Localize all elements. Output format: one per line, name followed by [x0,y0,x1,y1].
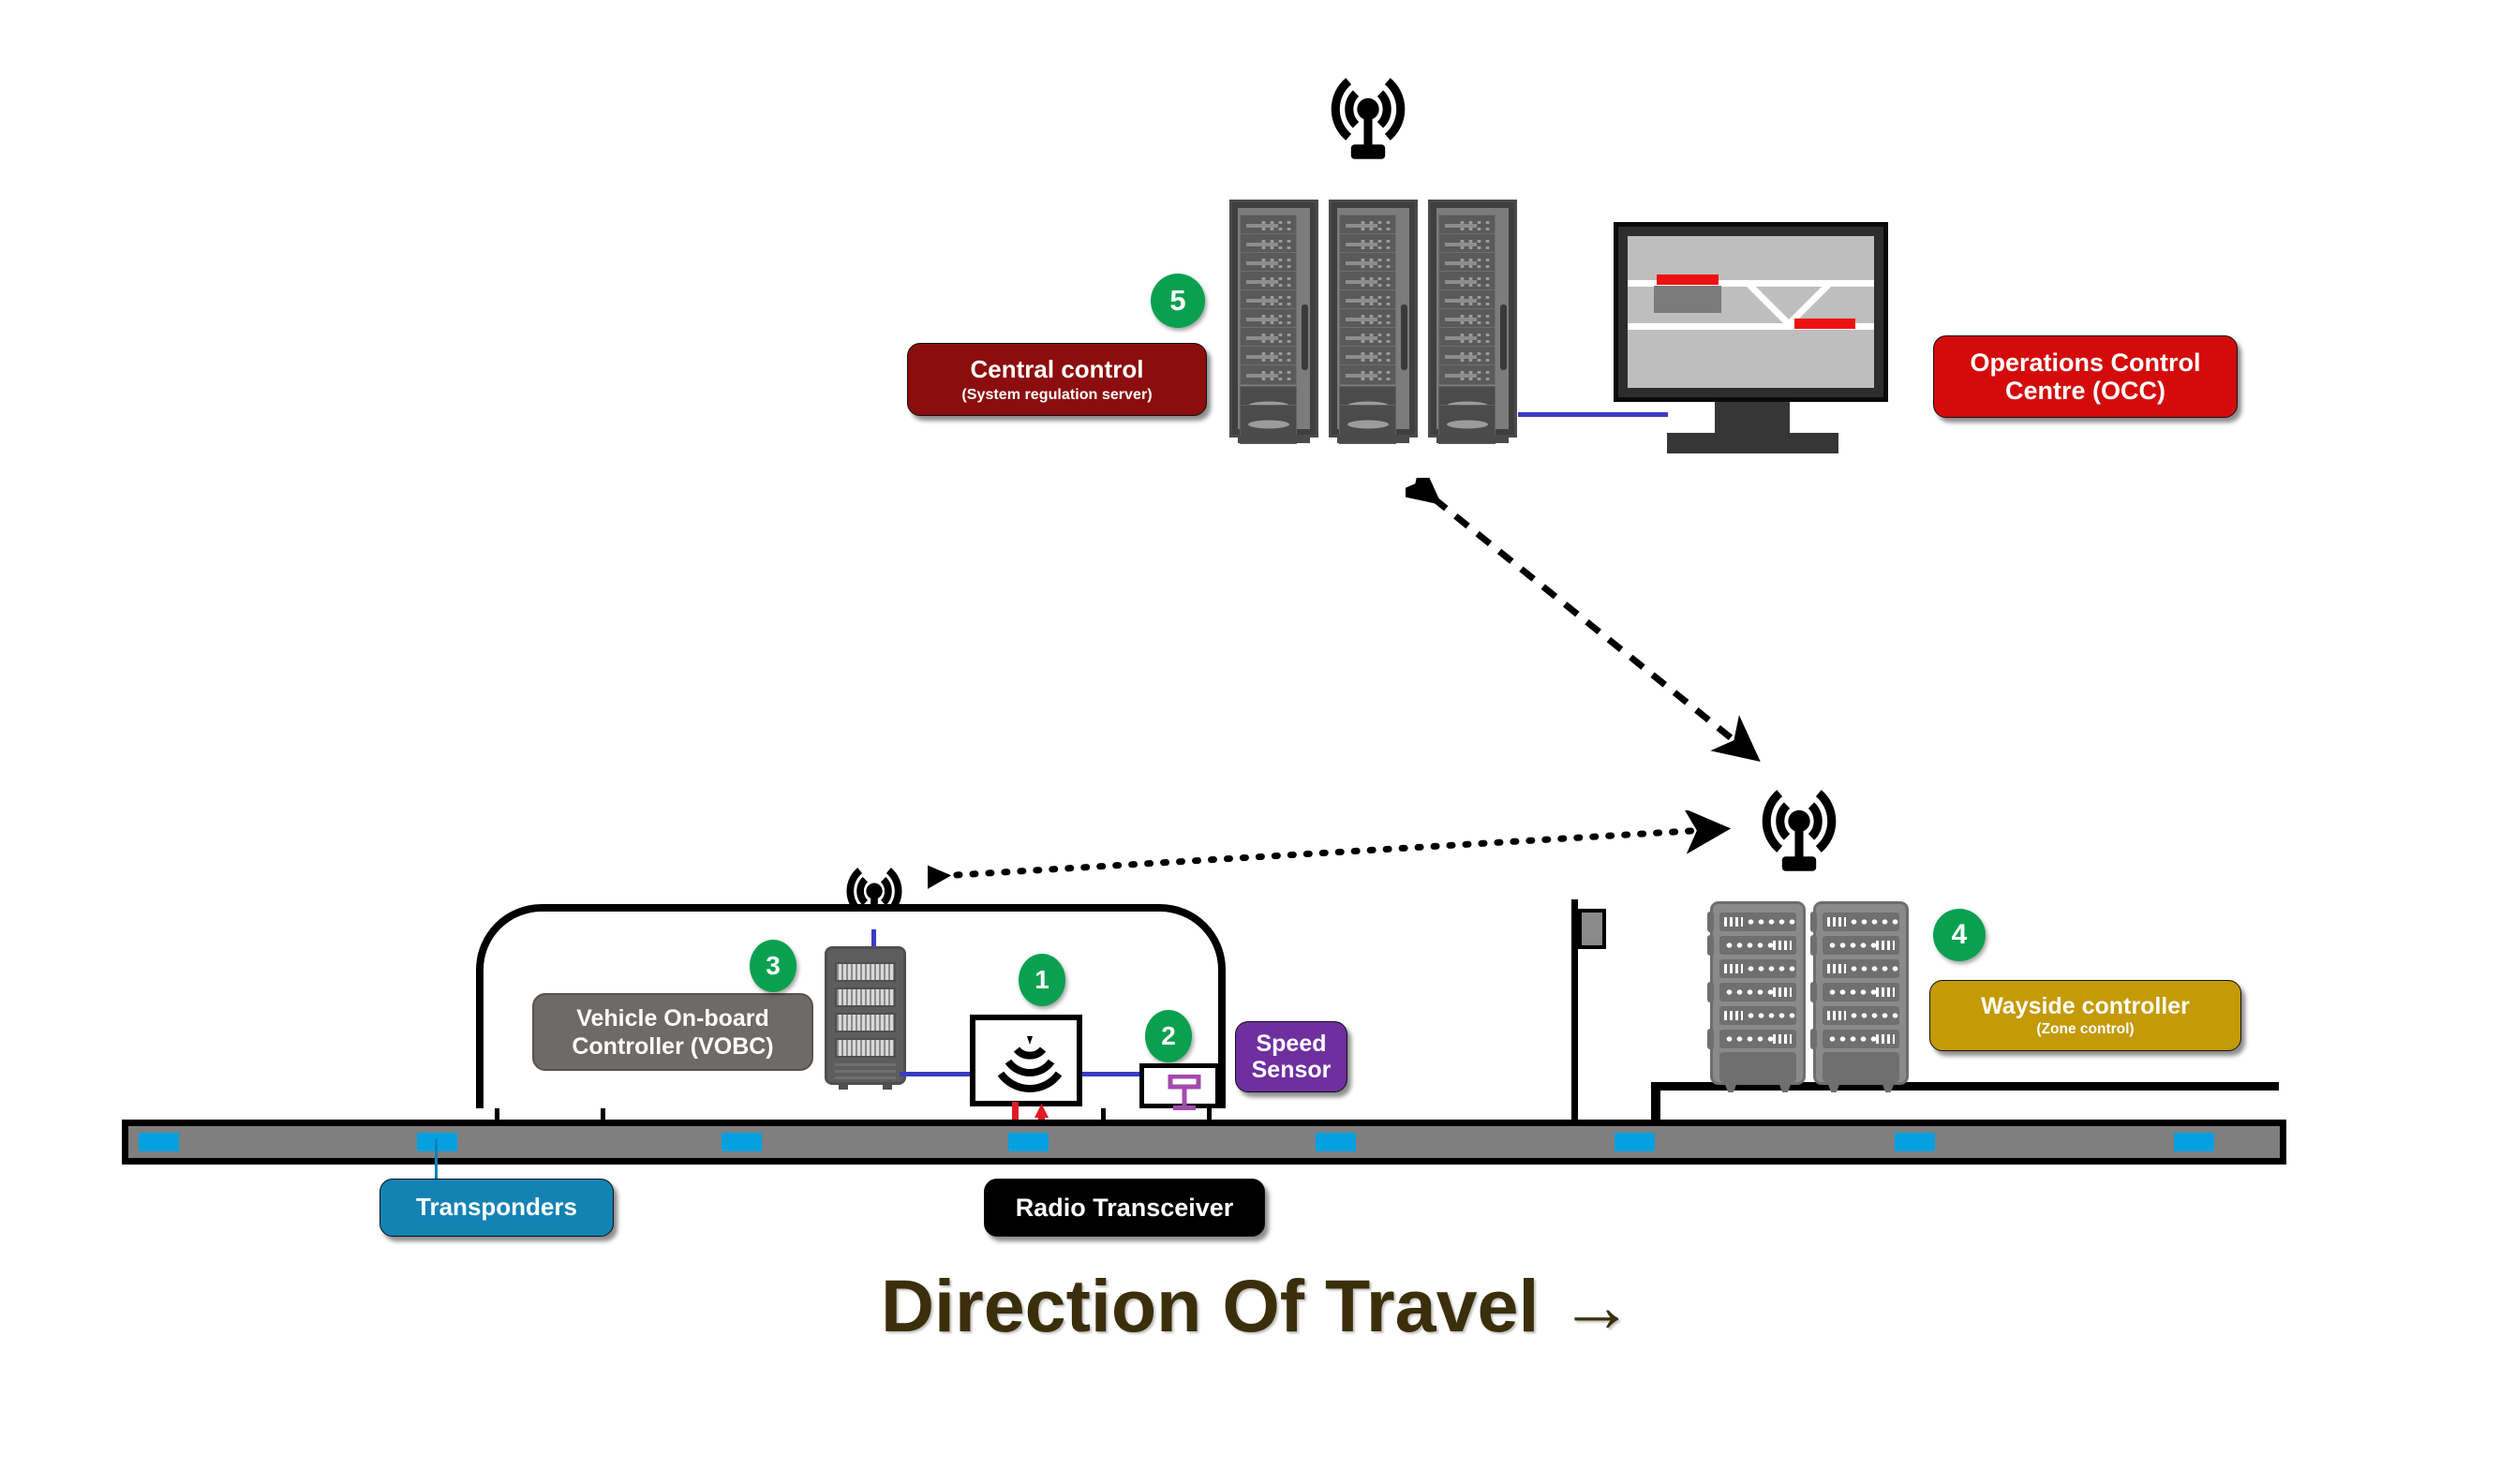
transponder-5 [1316,1133,1356,1151]
schematic-train-block [1654,286,1721,313]
speed-sensor-label: Speed Sensor [1235,1021,1347,1092]
rack-to-transceiver-cable [900,1072,973,1076]
transponder-6 [1615,1133,1655,1151]
transponder-7 [1895,1133,1935,1151]
antenna-occ-icon [1307,54,1429,176]
signal-head [1578,909,1606,949]
badge-2-number: 2 [1161,1021,1176,1051]
transceiver-to-sensor-cable [1082,1072,1140,1076]
central-control-title: Central control [971,356,1144,383]
badge-5: 5 [1151,274,1205,328]
occ-label: Operations Control Centre (OCC) [1933,335,2238,418]
occ-monitor [1614,222,1888,402]
transponder-3 [722,1133,762,1151]
direction-of-travel-text: Direction Of Travel → [881,1264,1633,1347]
wayside-rack-2 [1813,901,1909,1085]
central-server-rack-3 [1428,200,1517,438]
wayside-controller-label: Wayside controller (Zone control) [1929,980,2241,1051]
vobc-box: Vehicle On-board Controller (VOBC) [532,993,813,1071]
antenna-wayside-icon [1738,766,1860,888]
signal-pole [1571,899,1578,1136]
central-control-subtitle: (System regulation server) [961,386,1152,403]
occ-track-schematic [1628,236,1874,388]
badge-3: 3 [750,940,796,992]
schematic-occupied-lower [1794,319,1855,329]
transponder-1 [139,1133,179,1151]
radio-transceiver-title: Radio Transceiver [1016,1194,1234,1222]
schematic-occupied-upper [1657,275,1719,285]
central-server-rack-2 [1329,200,1418,438]
monitor-base [1667,433,1838,453]
occ-title-line2: Centre (OCC) [2005,377,2165,405]
speed-sensor-icon [1165,1075,1204,1114]
wayside-subtitle: (Zone control) [2036,1021,2134,1037]
transponders-title: Transponders [416,1194,577,1221]
link-occ-wayside-arrow [1406,478,1780,778]
transponder-4 [1008,1133,1049,1151]
badge-5-number: 5 [1169,284,1185,318]
speed-sensor-title-line2: Sensor [1252,1057,1332,1083]
badge-4-number: 4 [1952,919,1968,951]
wayside-title: Wayside controller [1981,993,2190,1019]
badge-1: 1 [1019,954,1065,1006]
signal-down-icon [996,1032,1064,1094]
link-wayside-train-arrow [928,810,1743,913]
direction-of-travel-title: Direction Of Travel → [881,1263,1633,1349]
onboard-radio-transceiver [970,1015,1082,1106]
central-control-label: Central control (System regulation serve… [907,343,1207,416]
occ-title-line1: Operations Control [1970,349,2200,377]
transponders-label: Transponders [379,1179,614,1237]
central-server-rack-1 [1229,200,1318,438]
badge-1-number: 1 [1034,965,1049,995]
radio-transceiver-label: Radio Transceiver [984,1179,1265,1237]
onboard-speed-sensor-box [1139,1063,1220,1108]
speed-sensor-title-line1: Speed [1256,1031,1326,1057]
transponder-8 [2174,1133,2214,1151]
wayside-rack-1 [1710,901,1806,1085]
cbtc-architecture-diagram: Central control (System regulation serve… [0,0,2515,1484]
badge-3-number: 3 [766,951,781,981]
vobc-title-line2: Controller (VOBC) [572,1032,773,1061]
badge-4: 4 [1933,909,1986,961]
vobc-title-line1: Vehicle On-board [572,1004,773,1032]
badge-2: 2 [1145,1010,1192,1062]
onboard-server-rack [825,946,906,1085]
server-monitor-cable [1518,412,1668,417]
